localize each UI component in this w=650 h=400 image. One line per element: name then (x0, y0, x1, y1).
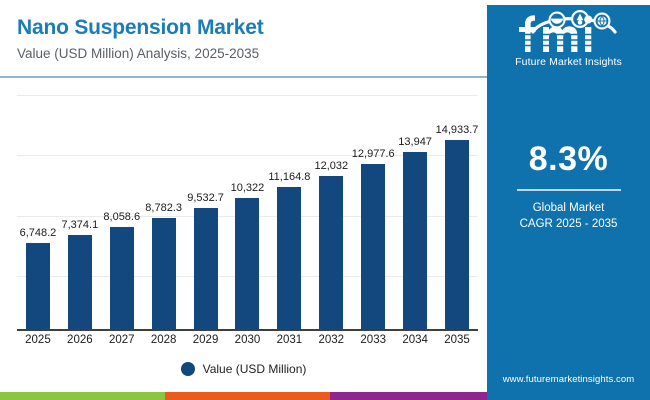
bar-value-label: 8,058.6 (103, 211, 140, 223)
x-tick-label: 2031 (268, 334, 310, 346)
bar-value-label: 9,532.7 (187, 192, 224, 204)
bar-value-label: 12,032 (314, 160, 348, 172)
bar-slot: 12,977.6 (352, 88, 394, 329)
bar-slot: 8,782.3 (143, 88, 185, 329)
bar[interactable] (319, 176, 343, 329)
bar-slot: 7,374.1 (59, 88, 101, 329)
bar-value-label: 12,977.6 (352, 148, 395, 160)
fmi-logo-icon (503, 10, 635, 54)
chart-legend: Value (USD Million) (0, 362, 487, 376)
x-tick-label: 2027 (101, 334, 143, 346)
cagr-callout: 8.3% Global Market CAGR 2025 - 2035 (487, 140, 650, 232)
bar-slot: 12,032 (310, 88, 352, 329)
bar-value-label: 11,164.8 (268, 171, 310, 183)
bar[interactable] (26, 243, 50, 329)
legend-label: Value (USD Million) (203, 362, 307, 376)
bar-slot: 9,532.7 (185, 88, 227, 329)
bar-slot: 11,164.8 (268, 88, 310, 329)
legend-marker-icon (181, 362, 195, 376)
panel-top-notch (487, 0, 650, 5)
page-title: Nano Suspension Market (17, 16, 263, 40)
bar-slot: 13,947 (394, 88, 436, 329)
x-tick-label: 2028 (143, 334, 185, 346)
x-tick-label: 2033 (352, 334, 394, 346)
x-tick-label: 2026 (59, 334, 101, 346)
bar-slot: 6,748.2 (17, 88, 59, 329)
bar[interactable] (235, 198, 259, 329)
chart-panel: Nano Suspension Market Value (USD Millio… (0, 0, 487, 400)
brand-tagline: Future Market Insights (487, 56, 650, 68)
bar-slot: 14,933.7 (436, 88, 478, 329)
x-tick-label: 2035 (436, 334, 478, 346)
bar[interactable] (68, 235, 92, 329)
bar-value-label: 13,947 (398, 136, 432, 148)
x-axis-ticks: 2025202620272028202920302031203220332034… (17, 334, 478, 354)
bar-value-label: 10,322 (231, 182, 265, 194)
cagr-caption-line1: Global Market (487, 200, 650, 216)
bar-value-label: 6,748.2 (20, 227, 57, 239)
bar-series: 6,748.27,374.18,058.68,782.39,532.710,32… (17, 88, 478, 329)
strip-segment (165, 392, 330, 400)
bar-value-label: 14,933.7 (436, 124, 479, 136)
x-axis-line (17, 329, 478, 331)
bar[interactable] (361, 164, 385, 329)
x-tick-label: 2032 (310, 334, 352, 346)
chart-header: Nano Suspension Market Value (USD Millio… (0, 0, 487, 76)
bar-value-label: 8,782.3 (145, 202, 182, 214)
bar-slot: 10,322 (227, 88, 269, 329)
cagr-value: 8.3% (487, 140, 650, 179)
website-url: www.futuremarketinsights.com (487, 374, 650, 385)
x-tick-label: 2029 (185, 334, 227, 346)
bar[interactable] (152, 218, 176, 329)
bar[interactable] (194, 208, 218, 329)
bar[interactable] (445, 140, 469, 329)
cagr-caption-line2: CAGR 2025 - 2035 (487, 216, 650, 232)
bar-value-label: 7,374.1 (61, 219, 98, 231)
x-tick-label: 2030 (227, 334, 269, 346)
bar[interactable] (403, 152, 427, 329)
header-divider (0, 76, 487, 78)
cagr-divider (517, 189, 621, 191)
bar[interactable] (277, 187, 301, 329)
bar-slot: 8,058.6 (101, 88, 143, 329)
strip-segment (0, 392, 165, 400)
bottom-color-strip (0, 392, 487, 400)
chart-infographic: Nano Suspension Market Value (USD Millio… (0, 0, 650, 400)
page-subtitle: Value (USD Million) Analysis, 2025-2035 (17, 46, 259, 61)
brand-panel: Future Market Insights 8.3% Global Marke… (487, 0, 650, 400)
brand-logo: Future Market Insights (487, 10, 650, 68)
x-tick-label: 2025 (17, 334, 59, 346)
strip-segment (330, 392, 487, 400)
x-tick-label: 2034 (394, 334, 436, 346)
bar[interactable] (110, 227, 134, 329)
